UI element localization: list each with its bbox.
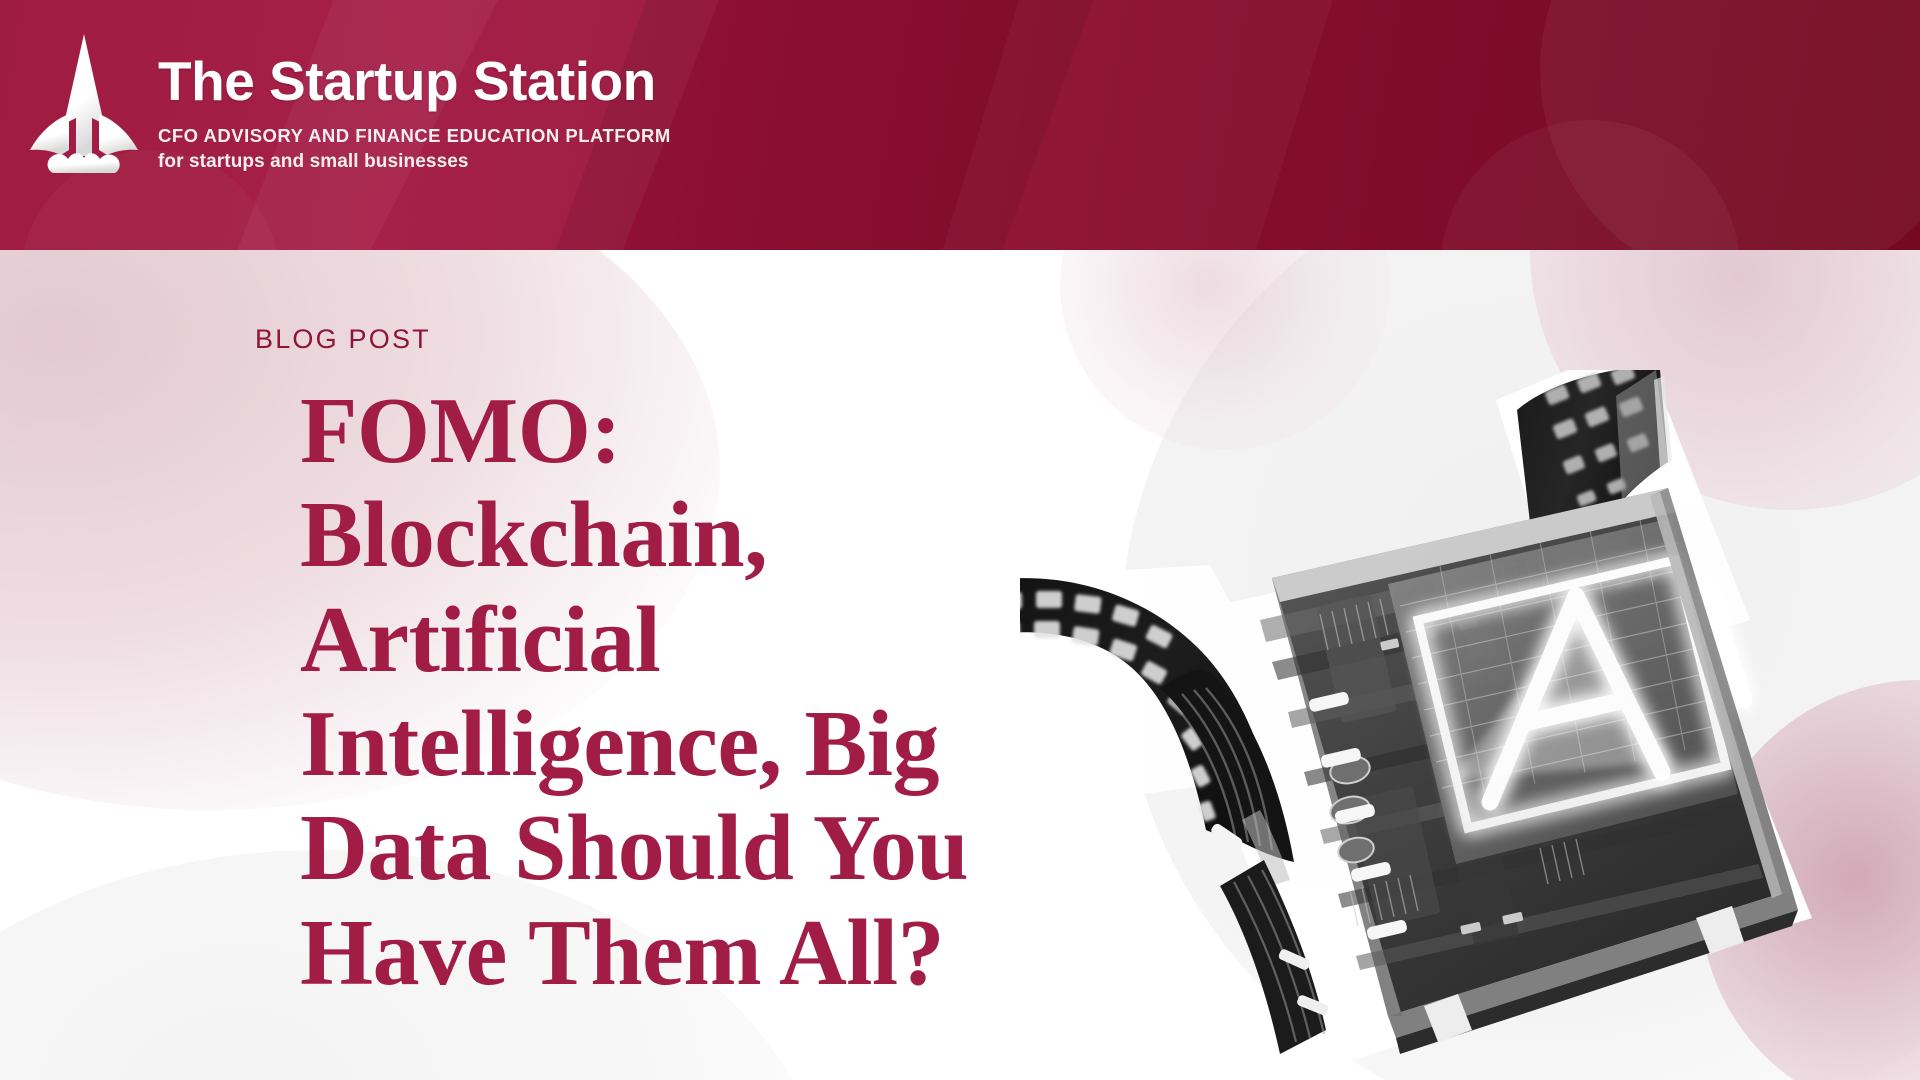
site-tagline-primary: CFO ADVISORY AND FINANCE EDUCATION PLATF…	[158, 125, 671, 147]
header-decorative-circle-2	[1440, 120, 1740, 250]
page-title-line: FOMO: Blockchain,	[300, 379, 1045, 588]
header-decorative-circle-1	[1540, 0, 1920, 250]
brand-text-block: The Startup Station CFO ADVISORY AND FIN…	[158, 28, 671, 173]
post-type-kicker: BLOG POST	[255, 326, 1045, 353]
brand-lockup[interactable]: The Startup Station CFO ADVISORY AND FIN…	[28, 28, 671, 178]
blog-hero-page: The Startup Station CFO ADVISORY AND FIN…	[0, 0, 1920, 1080]
rocket-arrow-logo-icon	[28, 28, 140, 178]
ai-microchip-illustration	[1020, 370, 1920, 1080]
ai-microchip-image	[1020, 370, 1920, 1080]
page-title-line: Have Them All?	[300, 901, 1045, 1005]
hero-section: BLOG POST FOMO: Blockchain,ArtificialInt…	[0, 250, 1920, 1080]
hero-text-column: BLOG POST FOMO: Blockchain,ArtificialInt…	[255, 326, 1045, 1005]
page-title-line: Intelligence, Big	[300, 692, 1045, 796]
page-title-line: Data Should You	[300, 796, 1045, 900]
header-decorative-diagonal-4	[884, 0, 1376, 250]
page-title: FOMO: Blockchain,ArtificialIntelligence,…	[300, 379, 1045, 1005]
site-title: The Startup Station	[158, 54, 671, 109]
site-header-banner: The Startup Station CFO ADVISORY AND FIN…	[0, 0, 1920, 250]
page-title-line: Artificial	[300, 588, 1045, 692]
site-tagline-secondary: for startups and small businesses	[158, 151, 671, 173]
